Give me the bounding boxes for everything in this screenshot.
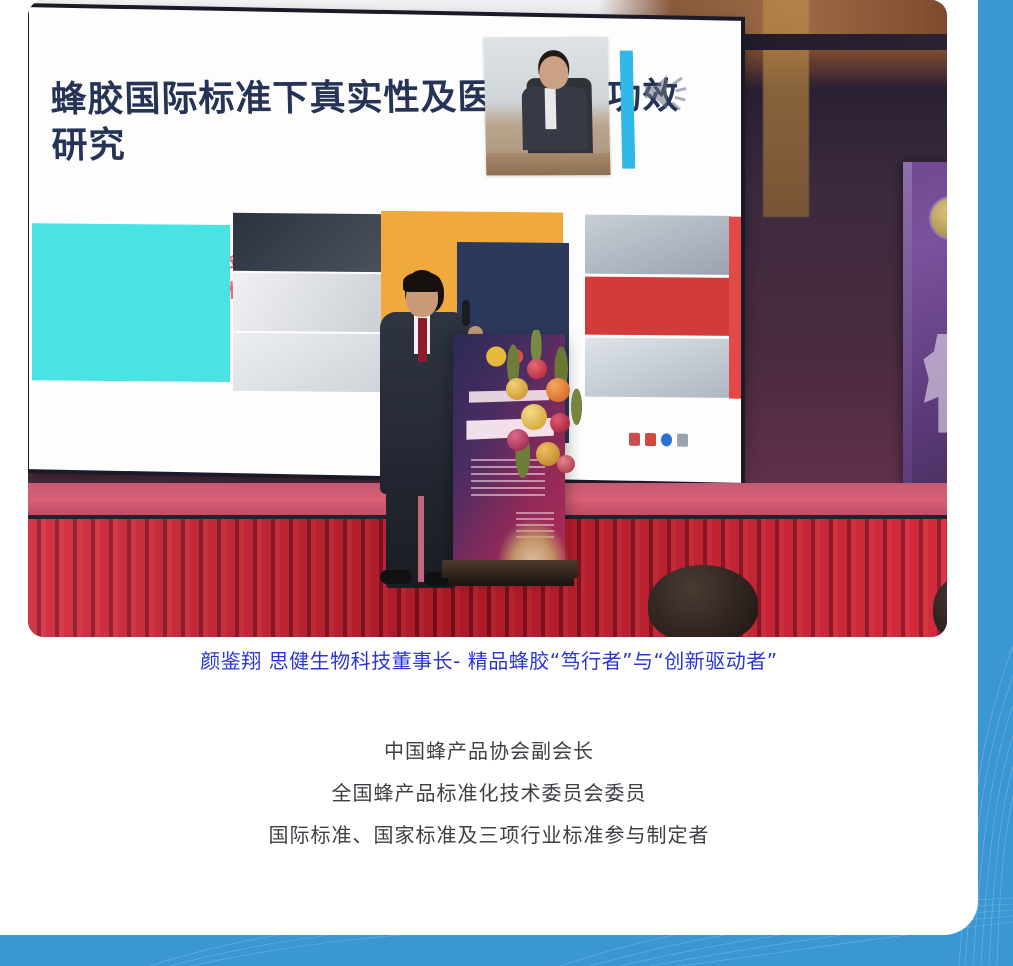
- credential-line-1: 中国蜂产品协会副会长: [0, 730, 978, 772]
- photo-caption: 颜鉴翔 思健生物科技董事长- 精品蜂胶“笃行者”与“创新驱动者”: [0, 645, 978, 674]
- microphone-icon: [462, 300, 470, 326]
- page-root: 蜂胶国际标准下真实性及医疗保健功效研究 中国蜂产品协会副会长 全国蜂产品标准化技…: [0, 0, 1013, 966]
- collage-cell: [233, 333, 397, 392]
- collage-cell: [233, 273, 397, 332]
- speaker-leg-gap: [418, 496, 424, 582]
- logo-icon-d: [677, 433, 688, 446]
- portrait-desk: [486, 153, 610, 175]
- flower-bloom: [521, 404, 547, 430]
- banner-edge: [903, 162, 912, 492]
- podium-flower-arrangement: [494, 330, 590, 490]
- slide-footer-logos: [629, 431, 699, 448]
- portrait-head: [539, 56, 569, 89]
- credential-line-3: 国际标准、国家标准及三项行业标准参与制定者: [0, 814, 978, 856]
- audience-head: [648, 565, 758, 637]
- collage-cell: [585, 338, 731, 398]
- slide-red-strip: [729, 217, 741, 399]
- gold-circular-emblem-icon: [931, 198, 947, 238]
- logo-icon-a: [629, 432, 640, 445]
- logo-icon-c: [661, 433, 672, 446]
- slide-photo-collage-right: [585, 215, 731, 398]
- flower-bloom: [546, 378, 570, 402]
- logo-icon-b: [645, 432, 656, 445]
- content-card: 蜂胶国际标准下真实性及医疗保健功效研究 中国蜂产品协会副会长 全国蜂产品标准化技…: [0, 0, 978, 935]
- hall-purple-banner: [903, 162, 947, 492]
- collage-cell-red: [585, 276, 731, 336]
- podium-ledge: [442, 560, 578, 578]
- slide-portrait-photo: [484, 37, 611, 175]
- credential-line-2: 全国蜂产品标准化技术委员会委员: [0, 772, 978, 814]
- slide-cyan-block: [32, 223, 230, 382]
- slide-cyan-accent-bar: [620, 51, 635, 169]
- flower-bloom: [506, 378, 528, 400]
- speaker-hair: [403, 272, 441, 292]
- banner-character-decoration: [922, 334, 947, 433]
- podium-highlight: [498, 520, 568, 564]
- speaker-necktie: [418, 318, 427, 362]
- flower-bloom: [527, 359, 547, 379]
- flower-bloom: [550, 413, 570, 433]
- collage-cell: [585, 215, 731, 275]
- speaker-credentials: 中国蜂产品协会副会长 全国蜂产品标准化技术委员会委员 国际标准、国家标准及三项行…: [0, 730, 978, 856]
- collage-cell: [233, 213, 397, 272]
- gold-column-decoration: [763, 0, 809, 217]
- portrait-shirt: [544, 88, 556, 129]
- conference-speaker-photo: 蜂胶国际标准下真实性及医疗保健功效研究 中国蜂产品协会副会长 全国蜂产品标准化技…: [28, 0, 947, 637]
- speaker-shoe-left: [380, 570, 412, 584]
- speaker-volume-icon: [641, 69, 693, 116]
